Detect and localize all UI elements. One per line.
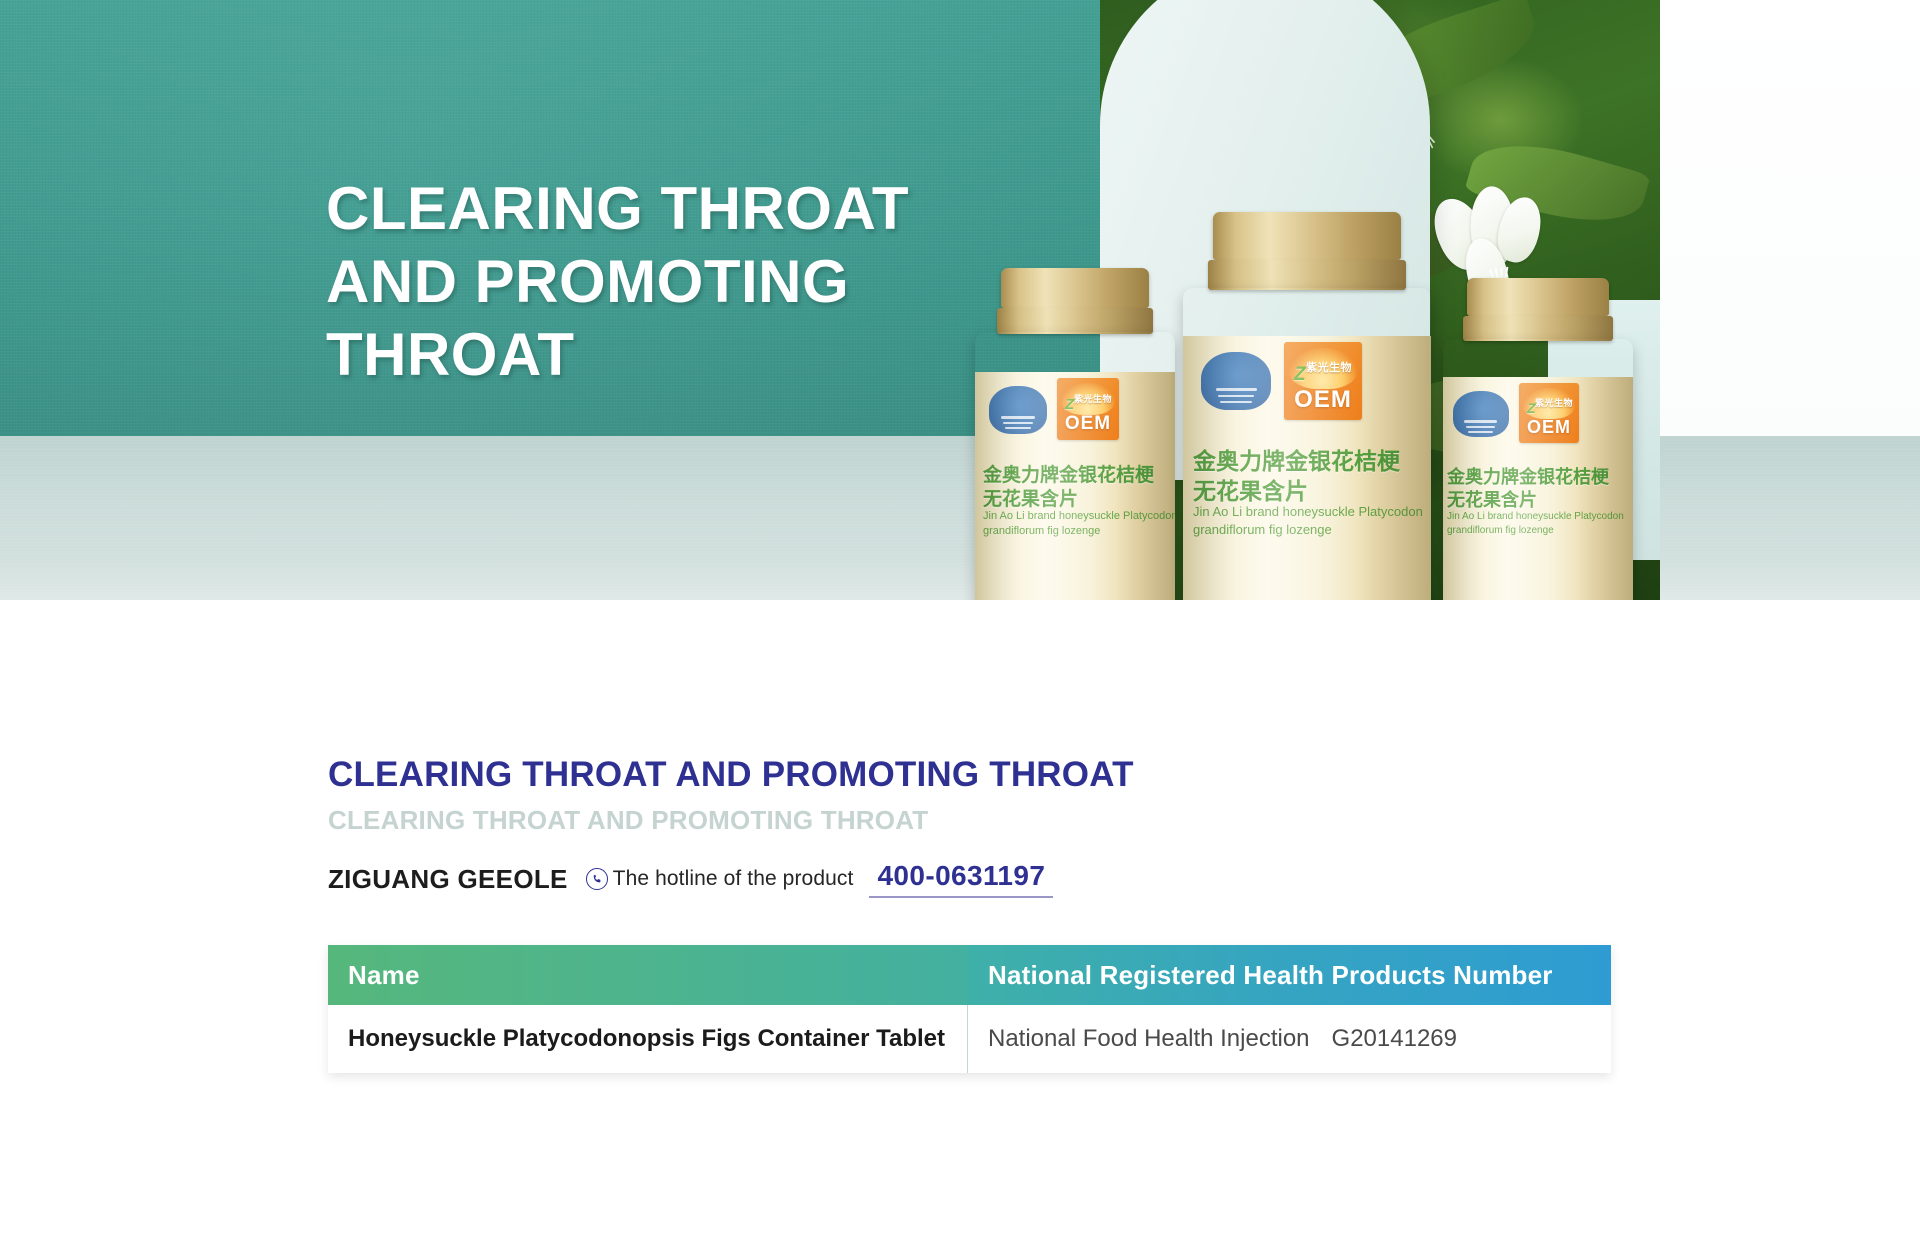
table-header-registration-number: National Registered Health Products Numb… (968, 945, 1611, 1005)
table-row: Honeysuckle Platycodonopsis Figs Contain… (328, 1005, 1611, 1073)
oem-label: OEM (1519, 417, 1579, 438)
brand-logo-text: 紫光生物 (1519, 396, 1579, 409)
bottle-body: Z 紫光生物 OEM 金奥力牌金银花桔梗 无花果含片 Jin Ao Li bra… (1443, 339, 1633, 600)
bottle-label: Z 紫光生物 OEM 金奥力牌金银花桔梗 无花果含片 Jin Ao Li bra… (975, 372, 1175, 600)
brand-name: ZIGUANG GEEOLE (328, 864, 568, 895)
brand-hotline-row: ZIGUANG GEEOLE The hotline of the produc… (328, 860, 1053, 898)
hotline-number[interactable]: 400-0631197 (869, 860, 1053, 898)
bottle-body: Z 紫光生物 OEM 金奥力牌金银花桔梗 无花果含片 Jin Ao Li bra… (1183, 288, 1431, 600)
bottle-name-cn-line1: 金奥力牌金银花桔梗 (975, 460, 1175, 487)
bottle-name-en-line2: grandiflorum fig lozenge (1183, 522, 1431, 537)
bottle-name-en-line2: grandiflorum fig lozenge (1443, 525, 1633, 536)
leaf-graphic (1497, 543, 1633, 600)
bottle-name-cn-line1: 金奥力牌金银花桔梗 (1183, 442, 1431, 476)
bottle-name-en-line1: Jin Ao Li brand honeysuckle Platycodon (1443, 511, 1633, 522)
bottle-name-en-line1: Jin Ao Li brand honeysuckle Platycodon (975, 510, 1175, 522)
leaf-graphic (1253, 540, 1431, 600)
section-title: CLEARING THROAT AND PROMOTING THROAT (328, 755, 1134, 795)
health-food-badge-icon (989, 386, 1047, 434)
product-bottle-center[interactable]: Z 紫光生物 OEM 金奥力牌金银花桔梗 无花果含片 Jin Ao Li bra… (1183, 212, 1431, 600)
brand-logo-text: 紫光生物 (1057, 392, 1119, 405)
bottle-cap-ring (1208, 260, 1406, 290)
phone-circle-icon (586, 868, 608, 890)
bottle-label: Z 紫光生物 OEM 金奥力牌金银花桔梗 无花果含片 Jin Ao Li bra… (1443, 377, 1633, 600)
health-food-badge-icon (1201, 352, 1271, 410)
product-bottle-right[interactable]: Z 紫光生物 OEM 金奥力牌金银花桔梗 无花果含片 Jin Ao Li bra… (1443, 278, 1633, 600)
product-marketing-page: Z 紫光生物 OEM 金奥力牌金银花桔梗 无花果含片 Jin Ao Li bra… (0, 0, 1920, 1242)
headline-line-1: CLEARING THROAT (326, 172, 1026, 245)
oem-label: OEM (1057, 413, 1119, 435)
registration-type: National Food Health Injection (988, 1025, 1310, 1053)
oem-logo-box: Z 紫光生物 OEM (1284, 342, 1362, 420)
section-subtitle: CLEARING THROAT AND PROMOTING THROAT (328, 805, 928, 836)
oem-logo-box: Z 紫光生物 OEM (1519, 383, 1579, 443)
bottle-name-cn-line2: 无花果含片 (975, 484, 1175, 511)
table-cell-registration: National Food Health Injection G20141269 (968, 1005, 1611, 1073)
bottle-cap (1213, 212, 1401, 260)
bottle-cap-ring (1463, 316, 1613, 341)
brand-logo-text: 紫光生物 (1284, 359, 1362, 375)
bottle-label: Z 紫光生物 OEM 金奥力牌金银花桔梗 无花果含片 Jin Ao Li bra… (1183, 336, 1431, 600)
oem-logo-box: Z 紫光生物 OEM (1057, 378, 1119, 440)
bottle-cap (1467, 278, 1609, 316)
bottle-name-en-line2: grandiflorum fig lozenge (975, 525, 1175, 537)
health-food-badge-icon (1453, 391, 1509, 437)
registration-number: G20141269 (1332, 1025, 1457, 1053)
table-cell-product-name: Honeysuckle Platycodonopsis Figs Contain… (328, 1005, 968, 1073)
bottle-name-cn-line2: 无花果含片 (1443, 486, 1633, 512)
product-registration-table: Name National Registered Health Products… (328, 945, 1611, 1073)
table-header-name: Name (328, 945, 968, 1005)
hero-headline: CLEARING THROAT AND PROMOTING THROAT (326, 172, 1026, 392)
bottle-name-en-line1: Jin Ao Li brand honeysuckle Platycodon (1183, 504, 1431, 519)
hotline-label: The hotline of the product (613, 867, 854, 891)
leaf-graphic (1033, 542, 1175, 600)
oem-label: OEM (1284, 386, 1362, 414)
bottle-name-cn-line2: 无花果含片 (1183, 472, 1431, 506)
headline-line-3: THROAT (326, 318, 1026, 391)
table-header-row: Name National Registered Health Products… (328, 945, 1611, 1005)
headline-line-2: AND PROMOTING (326, 245, 1026, 318)
hero-banner: Z 紫光生物 OEM 金奥力牌金银花桔梗 无花果含片 Jin Ao Li bra… (0, 0, 1920, 600)
